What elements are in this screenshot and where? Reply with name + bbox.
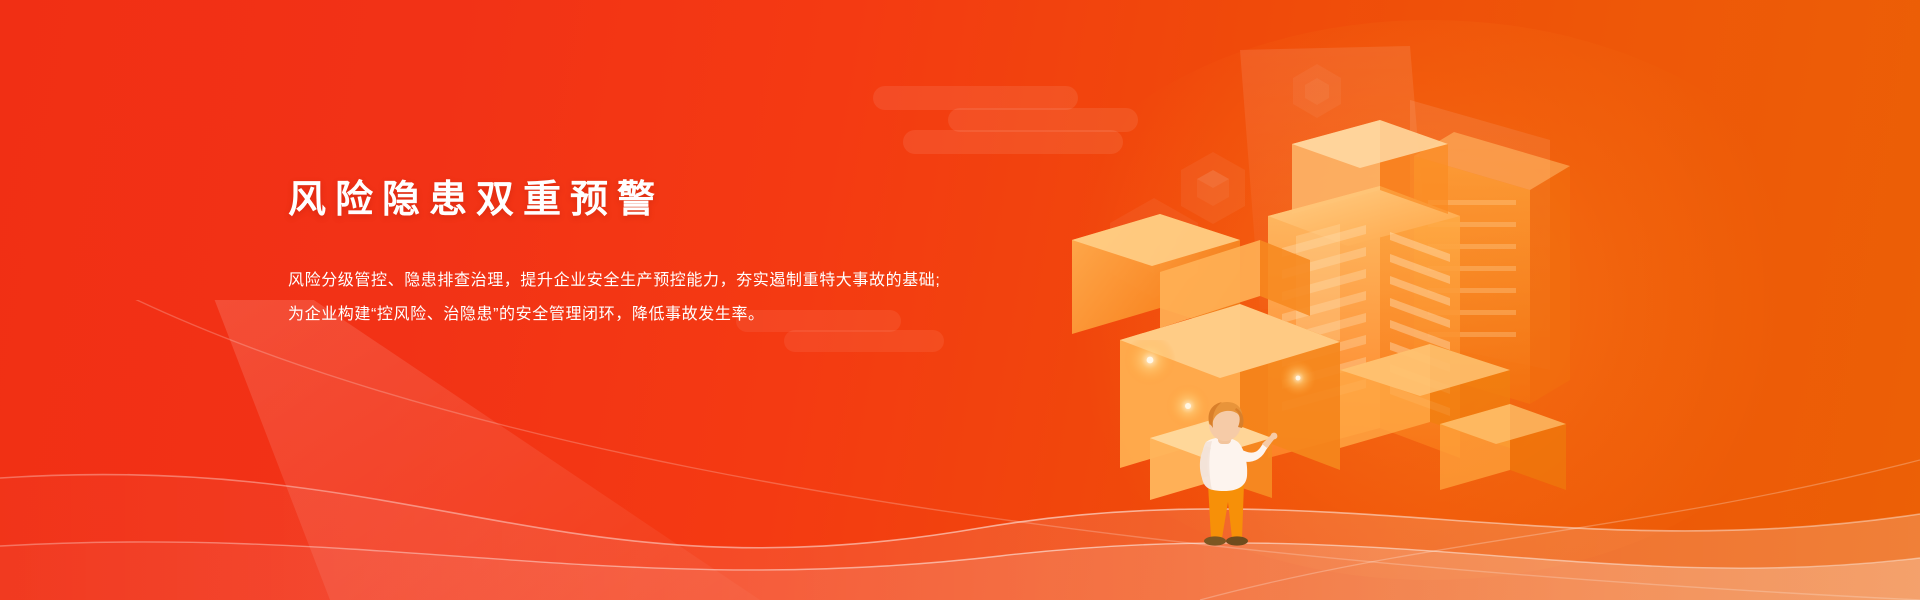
promo-banner: 风险隐患双重预警 风险分级管控、隐患排查治理，提升企业安全生产预控能力，夯实遏制… [0, 0, 1920, 600]
banner-copy: 风险隐患双重预警 风险分级管控、隐患排查治理，提升企业安全生产预控能力，夯实遏制… [288, 175, 988, 331]
page-title: 风险隐患双重预警 [288, 175, 988, 226]
subtitle-line-2: 为企业构建“控风险、治隐患”的安全管理闭环，降低事故发生率。 [288, 298, 988, 331]
bottom-wave-decoration [0, 300, 1920, 600]
subtitle-line-1: 风险分级管控、隐患排查治理，提升企业安全生产预控能力，夯实遏制重特大事故的基础; [288, 264, 988, 297]
banner-subtitle: 风险分级管控、隐患排查治理，提升企业安全生产预控能力，夯实遏制重特大事故的基础;… [288, 264, 988, 331]
person-illustration [1162, 398, 1292, 558]
